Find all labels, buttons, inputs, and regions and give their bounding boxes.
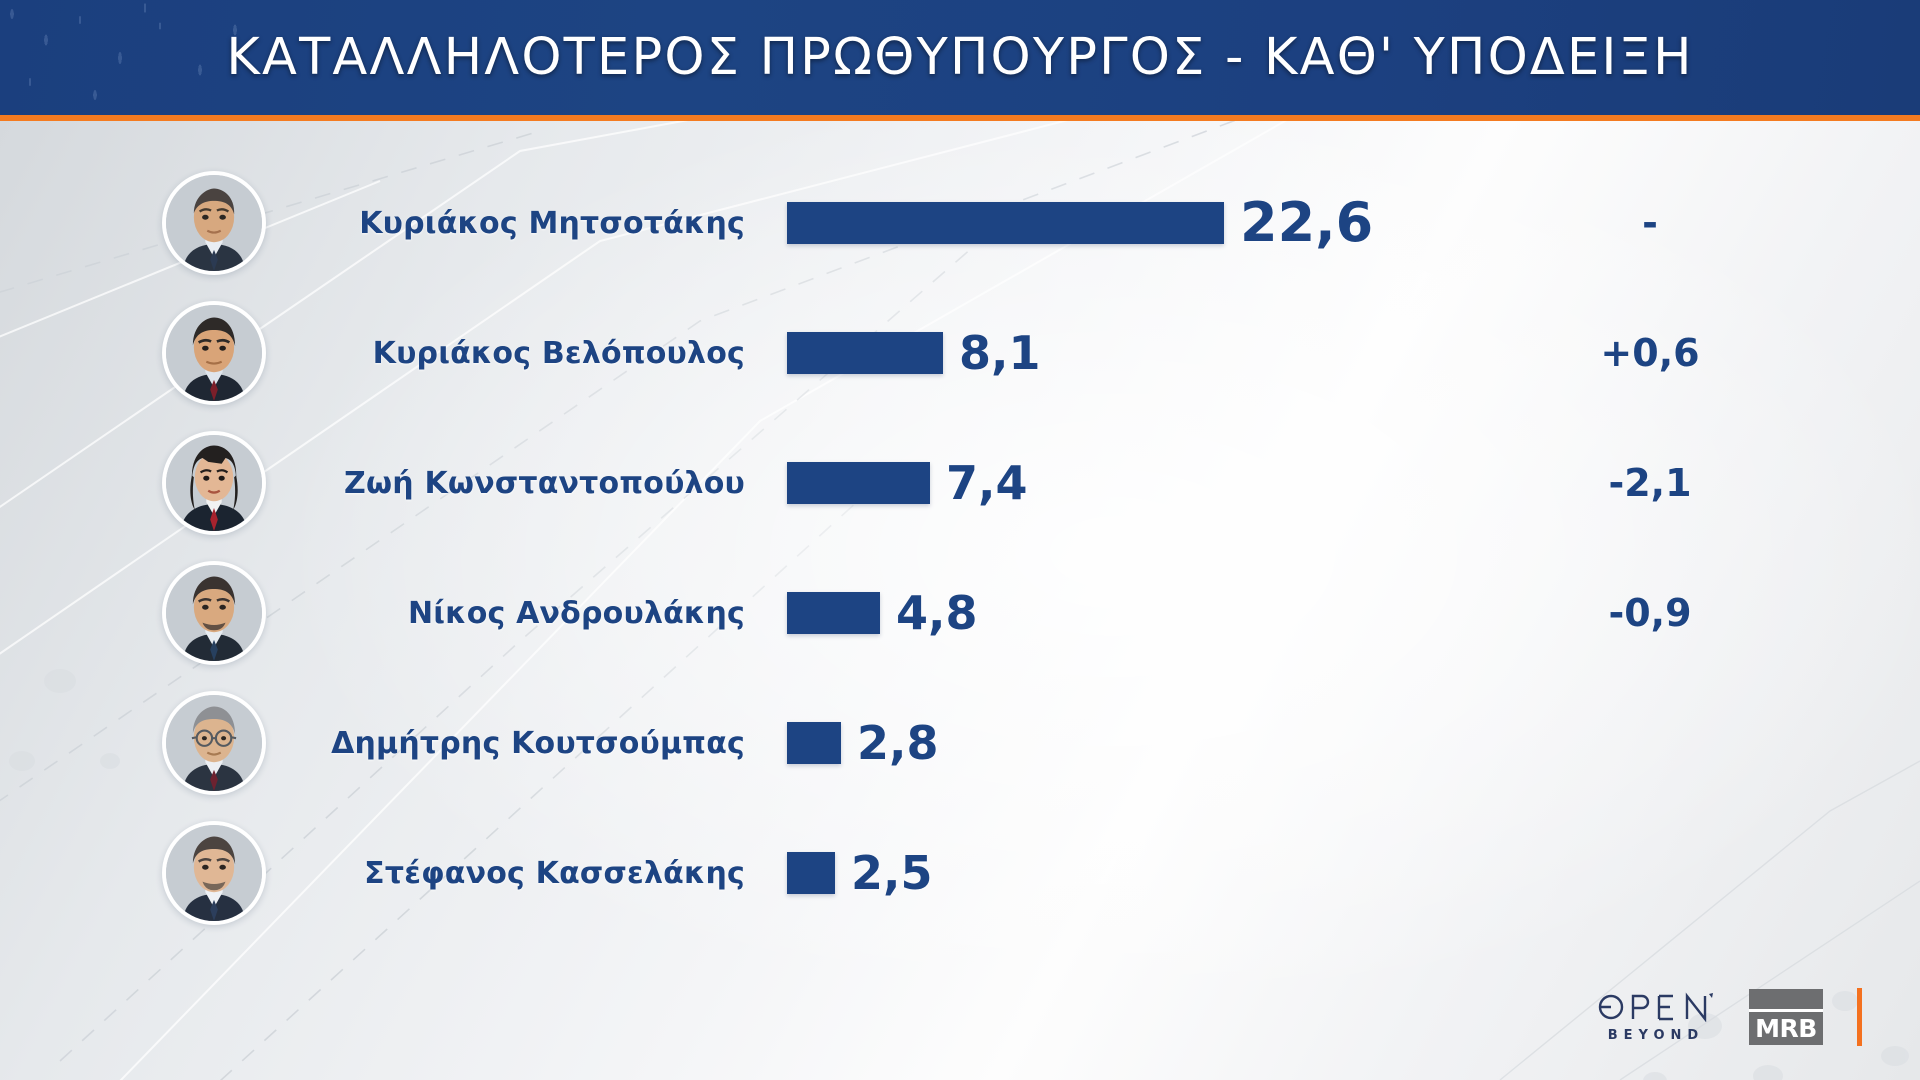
value-bar — [787, 852, 835, 894]
change-label — [1520, 821, 1780, 925]
candidate-name: Στέφανος Κασσελάκης — [300, 821, 745, 925]
results-list: Κυριάκος Μητσοτάκης 22,6 - — [0, 121, 1920, 951]
avatar-stefanos-kasselakis — [162, 821, 266, 925]
avatar-zoi-konstantopoulou — [162, 431, 266, 535]
page-title: ΚΑΤΑΛΛΗΛΟΤΕΡΟΣ ΠΡΩΘΥΠΟΥΡΓΟΣ - ΚΑΘ' ΥΠΟΔΕ… — [0, 0, 1920, 115]
bar-group: 4,8 — [787, 561, 978, 665]
change-label: +0,6 — [1520, 301, 1780, 405]
avatar-kyriakos-velopoulos — [162, 301, 266, 405]
table-row: Νίκος Ανδρουλάκης 4,8 -0,9 — [0, 561, 1920, 665]
value-label: 7,4 — [946, 460, 1028, 506]
table-row: Δημήτρης Κουτσούμπας 2,8 — [0, 691, 1920, 795]
footer-accent-tick — [1857, 988, 1862, 1046]
avatar-nikos-androulakis — [162, 561, 266, 665]
bar-group: 22,6 — [787, 171, 1373, 275]
candidate-name: Κυριάκος Βελόπουλος — [300, 301, 745, 405]
footer-logos: BEYOND MRB — [1597, 988, 1862, 1046]
open-beyond-logo: BEYOND — [1597, 992, 1715, 1043]
value-bar — [787, 592, 880, 634]
bar-group: 2,5 — [787, 821, 933, 925]
header-bar: ΚΑΤΑΛΛΗΛΟΤΕΡΟΣ ΠΡΩΘΥΠΟΥΡΓΟΣ - ΚΑΘ' ΥΠΟΔΕ… — [0, 0, 1920, 115]
value-label: 4,8 — [896, 590, 978, 636]
candidate-name: Ζωή Κωνσταντοπούλου — [300, 431, 745, 535]
avatar-dimitris-koutsoumpas — [162, 691, 266, 795]
candidate-name: Δημήτρης Κουτσούμπας — [300, 691, 745, 795]
open-wordmark-icon — [1597, 992, 1715, 1022]
mrb-logo-bar — [1749, 989, 1823, 1012]
change-label — [1520, 691, 1780, 795]
value-label: 2,8 — [857, 720, 939, 766]
bar-group: 7,4 — [787, 431, 1028, 535]
avatar-kyriakos-mitsotakis — [162, 171, 266, 275]
table-row: Ζωή Κωνσταντοπούλου 7,4 -2,1 — [0, 431, 1920, 535]
value-label: 2,5 — [851, 850, 933, 896]
value-bar — [787, 332, 943, 374]
value-bar — [787, 462, 930, 504]
change-label: -0,9 — [1520, 561, 1780, 665]
change-label: -2,1 — [1520, 431, 1780, 535]
beyond-label: BEYOND — [1608, 1028, 1704, 1043]
value-bar — [787, 202, 1224, 244]
table-row: Στέφανος Κασσελάκης 2,5 — [0, 821, 1920, 925]
value-bar — [787, 722, 841, 764]
bar-group: 8,1 — [787, 301, 1041, 405]
mrb-label: MRB — [1749, 1012, 1823, 1045]
value-label: 8,1 — [959, 330, 1041, 376]
candidate-name: Νίκος Ανδρουλάκης — [300, 561, 745, 665]
bar-group: 2,8 — [787, 691, 939, 795]
value-label: 22,6 — [1240, 196, 1373, 250]
table-row: Κυριάκος Μητσοτάκης 22,6 - — [0, 171, 1920, 275]
candidate-name: Κυριάκος Μητσοτάκης — [300, 171, 745, 275]
mrb-logo: MRB — [1749, 989, 1823, 1045]
poll-graphic: ΚΑΤΑΛΛΗΛΟΤΕΡΟΣ ΠΡΩΘΥΠΟΥΡΓΟΣ - ΚΑΘ' ΥΠΟΔΕ… — [0, 0, 1920, 1080]
table-row: Κυριάκος Βελόπουλος 8,1 +0,6 — [0, 301, 1920, 405]
change-label: - — [1520, 171, 1780, 275]
